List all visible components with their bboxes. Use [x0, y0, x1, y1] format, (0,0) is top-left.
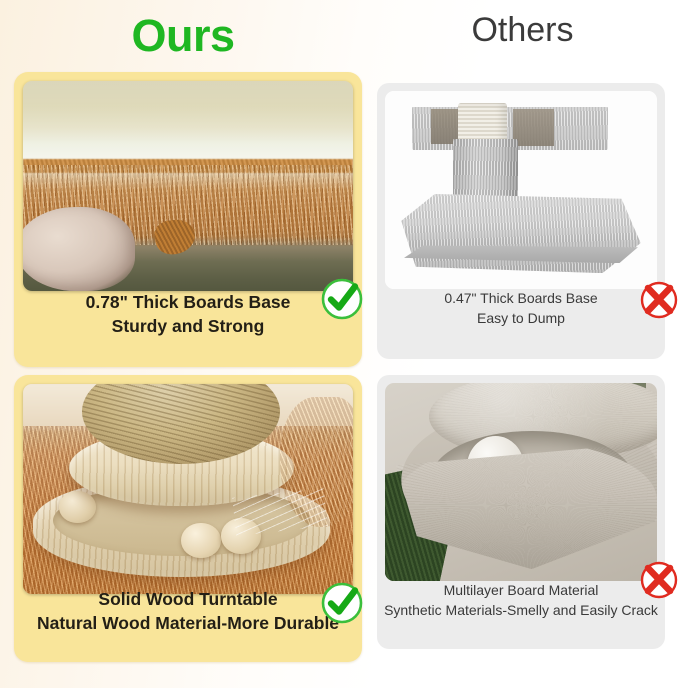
wooden-ball — [181, 523, 221, 559]
caption-line-2: Natural Wood Material-More Durable — [14, 611, 362, 635]
gray-multilayer-turntable-photo — [385, 383, 657, 581]
card-caption-ours-thickness: 0.78" Thick Boards Base Sturdy and Stron… — [14, 290, 362, 338]
check-badge-icon — [320, 581, 364, 625]
caption-line-2: Sturdy and Strong — [14, 314, 362, 338]
card-caption-others-thickness: 0.47" Thick Boards Base Easy to Dump — [377, 288, 665, 328]
wooden-ball — [59, 491, 95, 523]
cross-badge-icon — [639, 280, 679, 320]
brown-panel-right — [513, 109, 554, 147]
column-heading-ours: Ours — [0, 13, 366, 58]
comparison-card-ours-turntable: Solid Wood Turntable Natural Wood Materi… — [14, 375, 362, 662]
comparison-infographic: Ours Others 0.78" Thick Boards Base Stur… — [0, 0, 679, 688]
caption-line-1: 0.47" Thick Boards Base — [377, 288, 665, 308]
column-heading-others: Others — [366, 13, 679, 47]
caption-line-2: Easy to Dump — [377, 308, 665, 328]
photo-highlight — [23, 81, 353, 161]
check-badge-icon — [320, 277, 364, 321]
solid-wood-turntable-photo — [23, 384, 353, 594]
comparison-card-others-turntable: Multilayer Board Material Synthetic Mate… — [377, 375, 665, 649]
hand-holding-board — [23, 207, 135, 291]
comparison-card-ours-thickness: 0.78" Thick Boards Base Sturdy and Stron… — [14, 72, 362, 367]
caption-line-1: Multilayer Board Material — [377, 580, 665, 600]
comparison-card-others-thickness: 0.47" Thick Boards Base Easy to Dump — [377, 83, 665, 359]
card-caption-others-turntable: Multilayer Board Material Synthetic Mate… — [377, 580, 665, 620]
cross-badge-icon — [639, 560, 679, 600]
card-caption-ours-turntable: Solid Wood Turntable Natural Wood Materi… — [14, 587, 362, 635]
thin-gray-cat-tree-base-photo — [385, 91, 657, 289]
thick-furry-board-edge-photo — [23, 81, 353, 291]
caption-line-1: Solid Wood Turntable — [14, 587, 362, 611]
caption-line-1: 0.78" Thick Boards Base — [14, 290, 362, 314]
caption-line-2: Synthetic Materials-Smelly and Easily Cr… — [377, 600, 665, 620]
